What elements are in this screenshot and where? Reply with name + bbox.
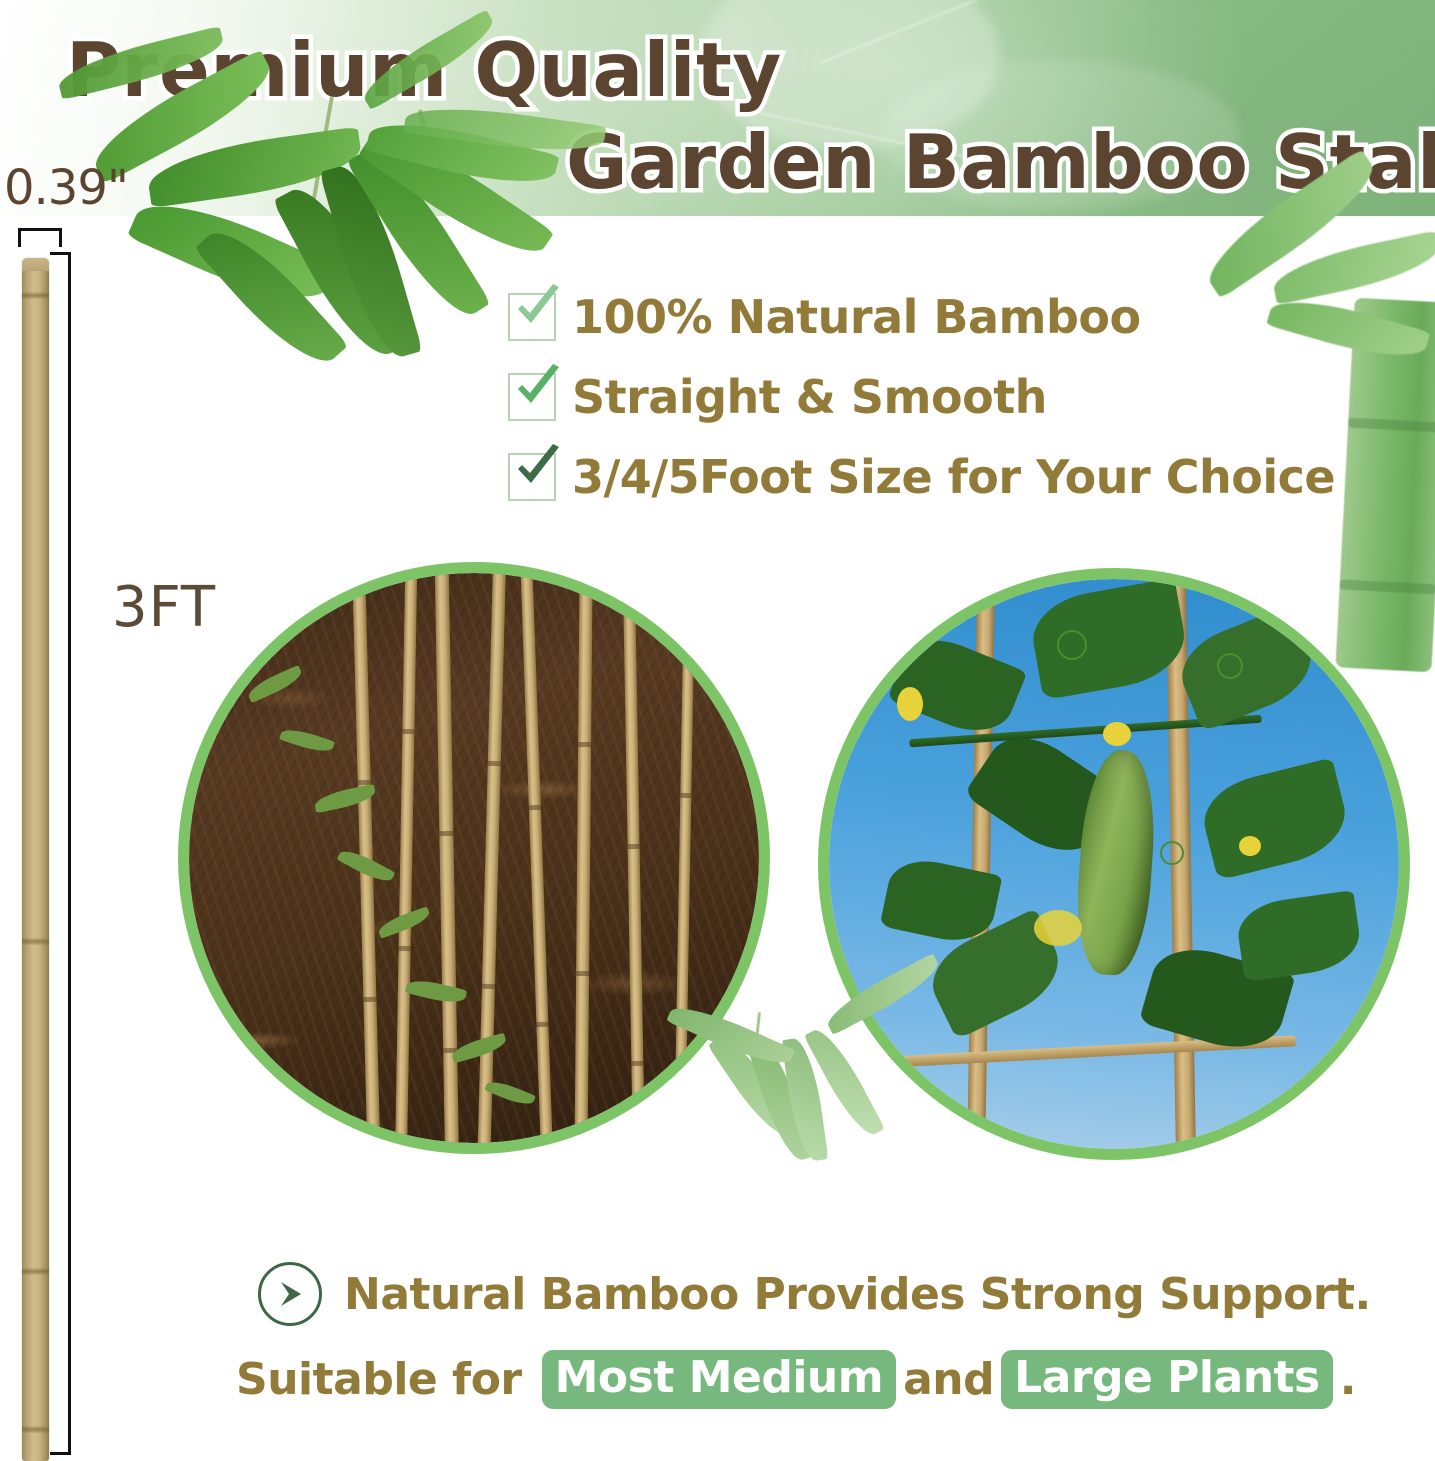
feature-item: 100% Natural Bamboo [508, 286, 1368, 348]
arrow-right-glyph [273, 1277, 307, 1311]
feature-item: 3/4/5Foot Size for Your Choice [508, 446, 1368, 508]
callout-line-2: Suitable for Most Medium and Large Plant… [236, 1350, 1356, 1409]
product-infographic: Premium Quality Garden Bamboo Stakes 0.3… [0, 0, 1435, 1461]
feature-label: 100% Natural Bamboo [572, 290, 1141, 344]
feature-label: Straight & Smooth [572, 370, 1047, 424]
checkbox-frame [508, 373, 556, 421]
diameter-bracket [18, 228, 62, 247]
callout-line-2-middle: and [903, 1354, 994, 1405]
feature-label: 3/4/5Foot Size for Your Choice [572, 450, 1335, 504]
checkbox-frame [508, 453, 556, 501]
dimension-diameter-label: 0.39" [4, 160, 128, 216]
callout-line-2-prefix: Suitable for [236, 1354, 522, 1405]
checkmark-icon [512, 282, 564, 334]
checkbox-frame [508, 293, 556, 341]
stake-node [22, 1426, 49, 1433]
stake-node [22, 938, 49, 945]
stake-node [22, 1268, 49, 1275]
highlight-most-medium: Most Medium [542, 1350, 896, 1409]
arrow-right-circle-icon [258, 1262, 322, 1326]
callout-line-1-text: Natural Bamboo Provides Strong Support. [344, 1269, 1371, 1320]
length-dimension-line [68, 252, 71, 1455]
checkmark-icon [512, 442, 564, 494]
bamboo-leaf-cluster-center [700, 1012, 920, 1222]
bamboo-stake-sample [22, 258, 49, 1461]
bamboo-stakes-in-mulch-photo [178, 562, 770, 1154]
feature-item: Straight & Smooth [508, 366, 1368, 428]
checkmark-icon [512, 362, 564, 414]
length-bracket-bottom [50, 1452, 71, 1455]
stake-node [22, 292, 49, 299]
callout-line-1: Natural Bamboo Provides Strong Support. [258, 1262, 1371, 1326]
stake-top-cap [22, 258, 49, 271]
callout-line-2-suffix: . [1340, 1354, 1356, 1405]
highlight-large-plants: Large Plants [1001, 1350, 1333, 1409]
feature-list: 100% Natural Bamboo Straight & Smooth 3/… [508, 286, 1368, 526]
